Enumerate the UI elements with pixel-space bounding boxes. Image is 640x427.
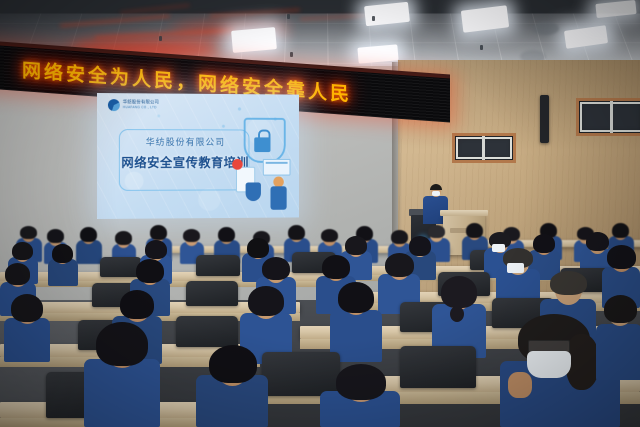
projector-slide: 华纺股份有限公司 HUAFANG CO., LTD 华纺股份有限公司 网络安全宣…: [97, 93, 299, 219]
attendee-face-mask: [507, 263, 524, 273]
window-right: [576, 98, 640, 136]
attendee-hair: [586, 232, 609, 251]
led-reflection-streak: [120, 4, 190, 13]
attendee-hair: [20, 226, 37, 239]
chair-back: [196, 255, 240, 276]
attendee-hair: [5, 263, 30, 285]
attendee-hair: [409, 236, 431, 256]
attendee-foreground-mid: [196, 352, 268, 427]
logo-text: 华纺股份有限公司 HUAFANG CO., LTD: [123, 101, 159, 109]
window-mullion: [610, 101, 613, 133]
attendee-hair: [338, 282, 374, 313]
training-room-photo: 网络安全为人民，网络安全靠人民 华纺股份有限公司 HUAFANG CO., LT…: [0, 0, 640, 427]
window-center: [452, 133, 516, 163]
attendee-hair: [441, 276, 477, 308]
attendee-hair: [150, 225, 167, 240]
attendee-hair: [11, 294, 43, 322]
attendee-hair: [288, 225, 305, 240]
attendee-hair: [385, 253, 414, 277]
attendee-body: [596, 324, 640, 380]
person-body-icon: [270, 186, 286, 210]
attendee-hair: [607, 245, 636, 269]
shield-icon: [246, 182, 261, 201]
attendee-hair: [120, 290, 154, 319]
attendee-hair: [612, 223, 629, 238]
attendee-hair: [218, 227, 235, 242]
ceiling-sprinkler-icon: [372, 16, 375, 21]
company-logo: 华纺股份有限公司 HUAFANG CO., LTD: [108, 99, 159, 111]
attendee-hair: [52, 244, 73, 263]
chair-back: [186, 281, 238, 306]
podium-top: [440, 210, 488, 216]
attendee-hair: [336, 364, 386, 400]
attendee-hair: [12, 242, 33, 260]
attendee-hair: [209, 345, 257, 383]
attendee-hair: [604, 295, 637, 323]
attendee-hair: [466, 223, 483, 238]
attendee-hair: [145, 240, 167, 259]
attendee-hair: [262, 257, 290, 280]
ceiling-sprinkler-icon: [287, 14, 290, 19]
window-mullion: [482, 136, 485, 160]
ceiling-sprinkler-icon: [159, 36, 162, 41]
attendee-hair: [248, 286, 284, 316]
attendee-hair: [136, 259, 164, 283]
logo-mark-icon: [108, 99, 120, 111]
ceiling-light-panel: [231, 27, 277, 53]
attendee-face-mask: [492, 244, 505, 252]
presenter-hair: [430, 184, 442, 190]
attendee-foreground-left: [84, 330, 160, 427]
attendee-hair: [322, 255, 350, 279]
attendee: [330, 288, 382, 362]
wall-speaker-right: [540, 95, 549, 143]
attendee-hair: [80, 227, 97, 242]
attendee-hair: [321, 229, 338, 242]
monitor-icon: [263, 159, 291, 176]
attendee-hair: [247, 238, 269, 258]
presenter-face-mask: [432, 191, 440, 196]
attendee-foreground-right-a: [320, 372, 400, 427]
chair-back: [176, 316, 238, 347]
cybersecurity-illustration: [230, 116, 293, 210]
attendee-body: [4, 318, 50, 362]
attendee-face-mask: [527, 351, 571, 378]
attendee-foreground-far-right: [596, 300, 640, 380]
ceiling-sprinkler-icon: [480, 45, 483, 50]
attendee-ponytail: [450, 306, 464, 322]
attendee-hair: [533, 234, 555, 253]
lock-icon: [254, 137, 270, 152]
ceiling-vent: [533, 22, 559, 35]
ceiling-sprinkler-icon: [290, 52, 293, 57]
attendee-hair: [183, 229, 200, 242]
attendee-hair: [428, 225, 445, 238]
attendee-hand: [508, 372, 532, 398]
attendee-hair: [96, 322, 148, 366]
attendee-hair: [115, 231, 132, 245]
attendee-hair: [47, 229, 64, 243]
attendee-body: [84, 359, 160, 427]
attendee-hair-side: [566, 334, 600, 390]
attendee-hair: [345, 236, 367, 255]
attendee-hair: [550, 271, 587, 295]
logo-company-en: HUAFANG CO., LTD: [123, 106, 159, 110]
attendee: [4, 300, 50, 362]
attendee: [48, 248, 78, 286]
chair-back: [400, 346, 476, 388]
attendee: [76, 230, 102, 264]
alert-badge-icon: [232, 159, 243, 170]
